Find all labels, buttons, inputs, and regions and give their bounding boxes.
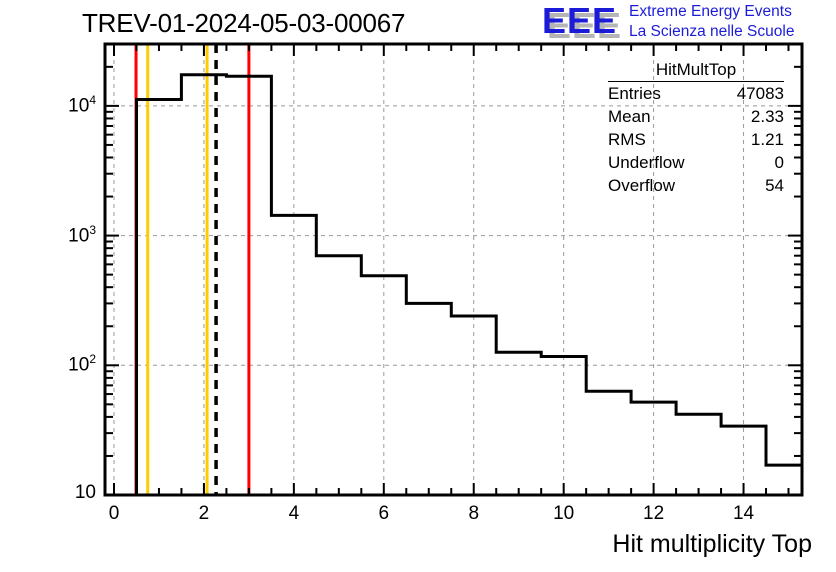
- y-tick-label: 104: [30, 93, 96, 117]
- stats-key: Mean: [608, 106, 651, 128]
- stats-title: HitMultTop: [608, 60, 784, 82]
- stats-row: Overflow54: [608, 174, 784, 197]
- stats-value: 1.21: [751, 129, 784, 151]
- stats-key: Entries: [608, 83, 661, 105]
- eee-logo-mark-icon: EEE: [542, 3, 617, 39]
- x-tick-label: 2: [164, 503, 244, 525]
- eee-logo-line1: Extreme Energy Events: [629, 2, 792, 22]
- x-tick-label: 10: [524, 503, 604, 525]
- stats-row: Underflow0: [608, 151, 784, 174]
- stats-key: Underflow: [608, 152, 685, 174]
- y-tick-label: 102: [30, 352, 96, 376]
- stats-row: RMS1.21: [608, 128, 784, 151]
- stats-row: Mean2.33: [608, 105, 784, 128]
- x-tick-label: 14: [704, 503, 784, 525]
- x-tick-label: 8: [434, 503, 514, 525]
- x-tick-label: 6: [344, 503, 424, 525]
- stats-key: RMS: [608, 129, 646, 151]
- x-tick-label: 0: [74, 503, 154, 525]
- stats-value: 0: [775, 152, 784, 174]
- y-tick-label: 103: [30, 223, 96, 247]
- eee-logo: EEE EEE Extreme Energy Events La Scienza…: [542, 2, 834, 44]
- stats-value: 54: [765, 175, 784, 197]
- stats-rows: Entries47083Mean2.33RMS1.21Underflow0Ove…: [608, 82, 784, 197]
- stats-key: Overflow: [608, 175, 675, 197]
- y-tick-label: 10: [30, 482, 96, 504]
- eee-logo-line2: La Scienza nelle Scuole: [629, 22, 794, 42]
- page-title: TREV-01-2024-05-03-00067: [82, 8, 405, 39]
- stats-box: HitMultTop Entries47083Mean2.33RMS1.21Un…: [608, 60, 784, 197]
- x-tick-label: 12: [614, 503, 694, 525]
- x-axis-title: Hit multiplicity Top: [612, 530, 812, 559]
- stats-value: 47083: [737, 83, 784, 105]
- x-tick-label: 4: [254, 503, 334, 525]
- stats-row: Entries47083: [608, 82, 784, 105]
- stats-value: 2.33: [751, 106, 784, 128]
